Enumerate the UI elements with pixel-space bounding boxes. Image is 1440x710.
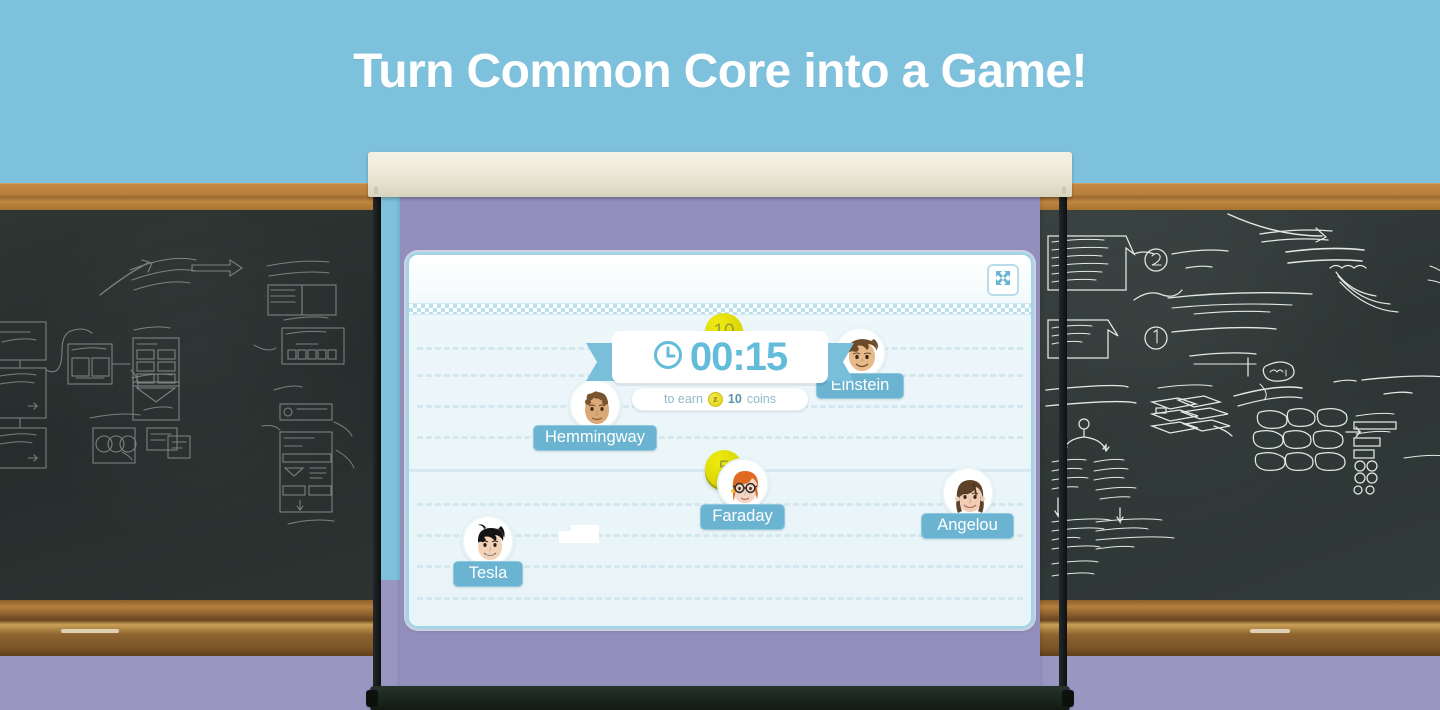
projector-screen-housing [368, 152, 1072, 197]
avatar-faraday [717, 458, 769, 510]
card-header [409, 255, 1031, 305]
timer-ribbon: 00:15 to earn z 10 coins [612, 331, 828, 389]
avatar-tesla [462, 515, 514, 567]
fullscreen-button[interactable] [987, 264, 1019, 296]
classroom-scene: Turn Common Core into a Game! [0, 0, 1440, 710]
zeal-coin-icon: z [708, 392, 723, 407]
player-name-faraday: Faraday [700, 504, 785, 530]
player-name-angelou: Angelou [921, 513, 1014, 539]
board-dash-line [417, 436, 1023, 439]
earn-suffix-label: coins [747, 392, 776, 406]
chalk-tray-left [0, 600, 374, 656]
chalkboard-right [1038, 183, 1440, 656]
player-name-tesla: Tesla [453, 561, 523, 587]
expand-arrows-icon [995, 270, 1011, 291]
projector-screen-weight-bar [370, 686, 1070, 710]
player-token-tesla[interactable]: Tesla [453, 515, 523, 587]
page-title: Turn Common Core into a Game! [0, 44, 1440, 99]
clock-icon [653, 340, 683, 375]
earn-amount-label: 10 [728, 392, 742, 406]
earn-coins-pill: to earn z 10 coins [631, 387, 809, 411]
projector-arm-left [373, 192, 381, 710]
chalkboard-frame-top [1038, 183, 1440, 210]
chalkboard-frame-top [0, 183, 374, 210]
chalk-tray-right [1038, 600, 1440, 656]
player-name-hemmingway: Hemmingway [533, 425, 657, 451]
loading-placeholder-block [559, 531, 599, 543]
projector-arm-right [1059, 192, 1067, 710]
chalkboard-left [0, 183, 374, 656]
game-board-card: 10 5 [406, 252, 1034, 629]
chalk-drawings-right [1038, 210, 1440, 600]
chalkboard-surface-left [0, 210, 374, 600]
player-token-faraday[interactable]: Faraday [700, 458, 785, 530]
earn-prefix-label: to earn [664, 392, 703, 406]
timer-value: 00:15 [690, 337, 787, 377]
avatar-angelou [942, 467, 994, 519]
chalk-drawings-left [0, 210, 374, 600]
chalkboard-surface-right [1038, 210, 1440, 600]
player-token-angelou[interactable]: Angelou [921, 467, 1014, 539]
countdown-timer: 00:15 [612, 331, 828, 383]
projector-screen: 10 5 [368, 152, 1072, 698]
board-dash-line [417, 597, 1023, 600]
